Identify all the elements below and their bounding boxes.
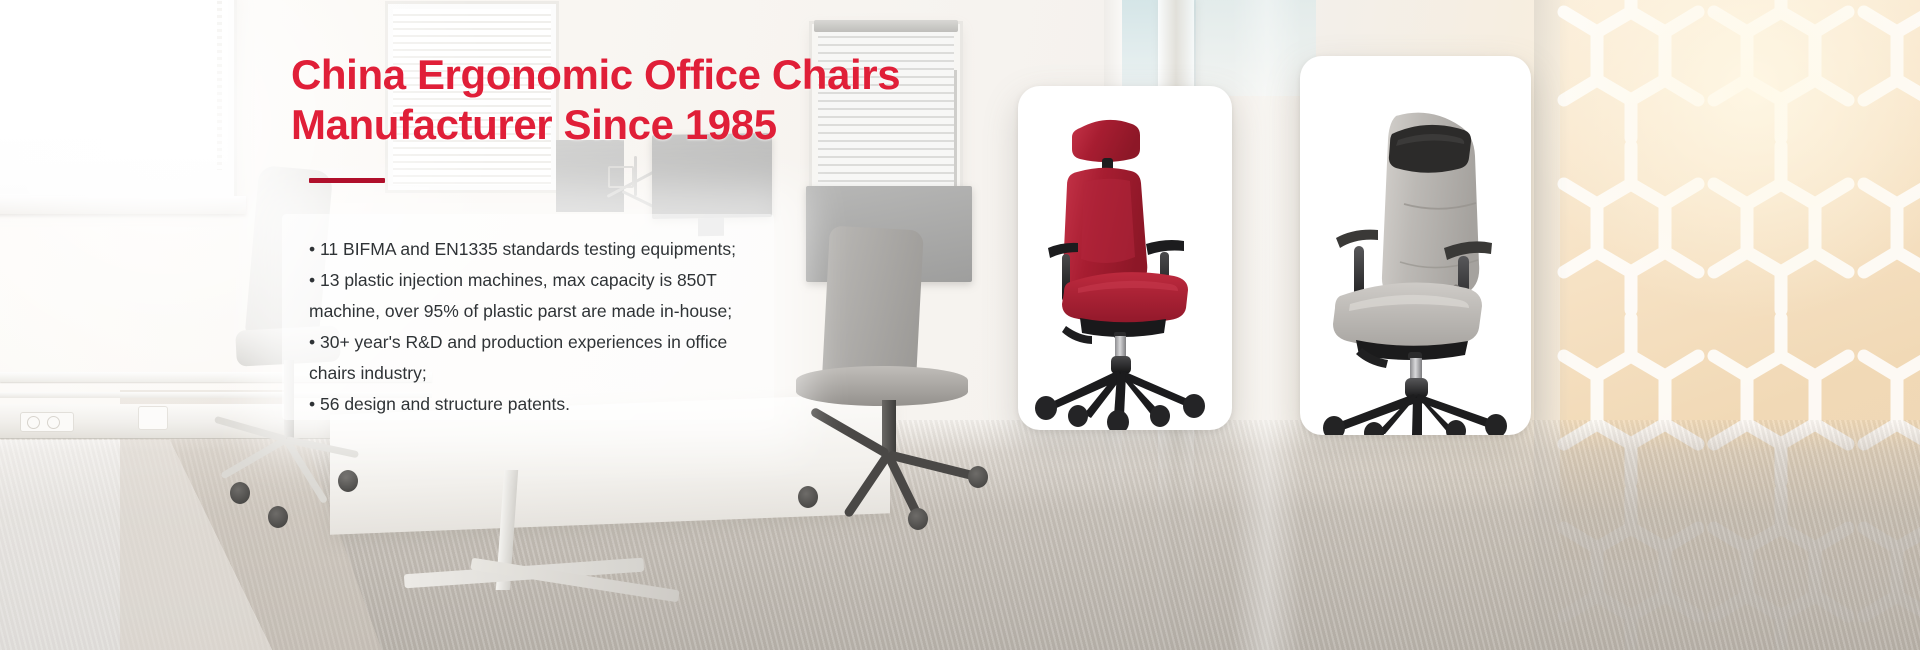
product-card-red-chair[interactable] [1018, 86, 1232, 430]
glass-panel-tint-2 [1196, 0, 1316, 96]
feature-list-line: chairs industry; [309, 358, 779, 389]
feature-list-line: • 13 plastic injection machines, max cap… [309, 265, 779, 296]
feature-list-line: • 56 design and structure patents. [309, 389, 779, 420]
window-light-bloom-right [1500, 0, 1920, 340]
feature-list-line: machine, over 95% of plastic parst are m… [309, 296, 779, 327]
blind-headrail [814, 20, 958, 32]
headline-line-2: Manufacturer Since 1985 [291, 100, 1011, 150]
hero-banner: China Ergonomic Office Chairs Manufactur… [0, 0, 1920, 650]
title-accent-bar [309, 178, 385, 183]
headline-line-1: China Ergonomic Office Chairs [291, 51, 900, 98]
gray-executive-chair-image [1300, 56, 1531, 435]
red-executive-chair-image [1018, 86, 1232, 430]
page-title: China Ergonomic Office Chairs Manufactur… [291, 50, 1011, 150]
feature-list-line: • 11 BIFMA and EN1335 standards testing … [309, 234, 779, 265]
feature-list: • 11 BIFMA and EN1335 standards testing … [309, 234, 779, 420]
scene-chair-right [790, 228, 990, 528]
feature-list-line: • 30+ year's R&D and production experien… [309, 327, 779, 358]
product-card-gray-chair[interactable] [1300, 56, 1531, 435]
